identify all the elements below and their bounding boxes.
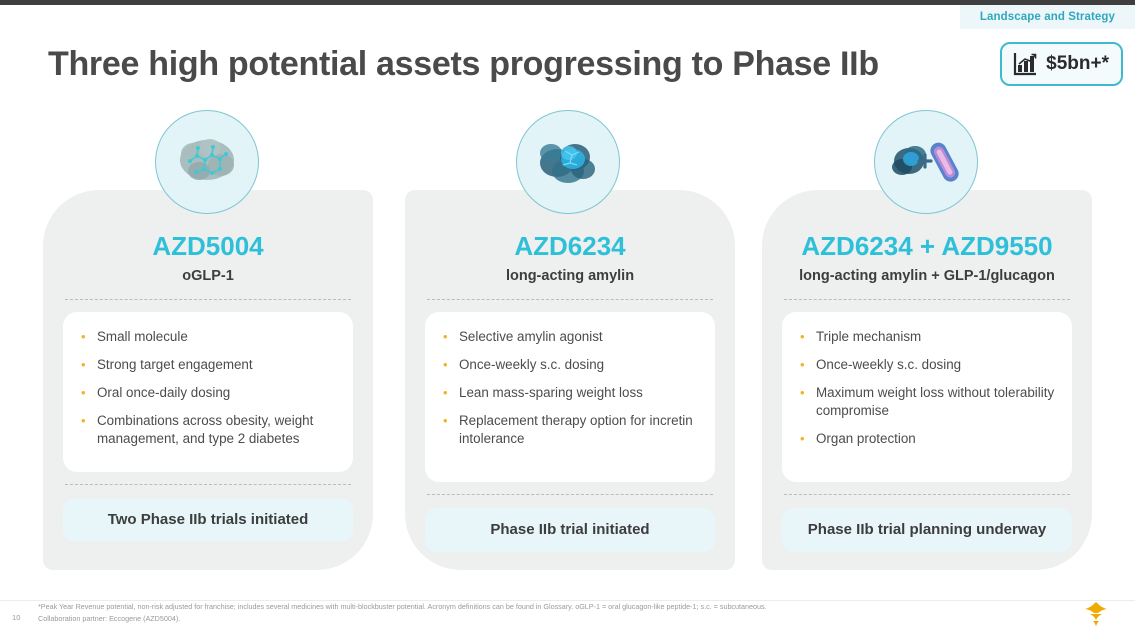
bullet-dot-icon: • <box>796 430 816 448</box>
bullet-text: Replacement therapy option for incretin … <box>459 412 701 448</box>
asset-code: AZD5004 <box>63 232 353 261</box>
status-badge: Phase IIb trial initiated <box>425 508 715 552</box>
status-badge: Phase IIb trial planning underway <box>782 508 1072 552</box>
molecule-protein-icon <box>527 119 609 206</box>
bullet-text: Strong target engagement <box>97 356 253 374</box>
bullet-dot-icon: • <box>77 412 97 448</box>
footnote-line-1: *Peak Year Revenue potential, non-risk a… <box>38 601 978 613</box>
molecule-small-icon <box>166 119 248 206</box>
footnote: *Peak Year Revenue potential, non-risk a… <box>38 601 978 625</box>
bullet-panel: • Small molecule • Strong target engagem… <box>63 312 353 472</box>
footnote-line-2: Collaboration partner: Eccogene (AZD5004… <box>38 613 978 625</box>
divider <box>427 494 713 495</box>
list-item: • Oral once-daily dosing <box>77 384 339 402</box>
list-item: • Replacement therapy option for increti… <box>439 412 701 448</box>
revenue-amount: $5bn+* <box>1046 53 1109 75</box>
bullet-text: Oral once-daily dosing <box>97 384 230 402</box>
bullet-dot-icon: • <box>796 384 816 420</box>
list-item: • Organ protection <box>796 430 1058 448</box>
bullet-text: Small molecule <box>97 328 188 346</box>
astrazeneca-logo <box>1079 601 1113 629</box>
bullet-text: Triple mechanism <box>816 328 921 346</box>
status-text: Phase IIb trial initiated <box>490 521 649 538</box>
status-badge: Two Phase IIb trials initiated <box>63 498 353 542</box>
list-item: • Combinations across obesity, weight ma… <box>77 412 339 448</box>
bullet-dot-icon: • <box>77 356 97 374</box>
status-text: Phase IIb trial planning underway <box>808 521 1046 538</box>
bullet-text: Organ protection <box>816 430 916 448</box>
bullet-panel: • Triple mechanism • Once-weekly s.c. do… <box>782 312 1072 482</box>
asset-subtitle: long-acting amylin <box>425 267 715 285</box>
page-title: Three high potential assets progressing … <box>48 45 879 84</box>
divider <box>65 299 351 300</box>
asset-subtitle: oGLP-1 <box>63 267 353 285</box>
list-item: • Selective amylin agonist <box>439 328 701 346</box>
divider <box>65 484 351 485</box>
bullet-text: Once-weekly s.c. dosing <box>816 356 961 374</box>
asset-code: AZD6234 <box>425 232 715 261</box>
bullet-panel: • Selective amylin agonist • Once-weekly… <box>425 312 715 482</box>
molecule-combination-icon <box>885 119 967 206</box>
bar-chart-icon <box>1012 51 1038 77</box>
bullet-text: Selective amylin agonist <box>459 328 603 346</box>
bullet-dot-icon: • <box>77 328 97 346</box>
list-item: • Small molecule <box>77 328 339 346</box>
bullet-dot-icon: • <box>439 328 459 346</box>
asset-card-azd6234-azd9550: AZD6234 + AZD9550 long-acting amylin + G… <box>762 190 1092 570</box>
bullet-text: Combinations across obesity, weight mana… <box>97 412 339 448</box>
slide-canvas: Landscape and Strategy $5bn+* Three high… <box>0 0 1135 637</box>
asset-code: AZD6234 + AZD9550 <box>782 232 1072 261</box>
list-item: • Strong target engagement <box>77 356 339 374</box>
divider <box>784 494 1070 495</box>
list-item: • Triple mechanism <box>796 328 1058 346</box>
slide-number: 10 <box>12 612 20 625</box>
revenue-badge: $5bn+* <box>1000 42 1123 86</box>
bullet-dot-icon: • <box>77 384 97 402</box>
bullet-dot-icon: • <box>796 328 816 346</box>
bullet-text: Maximum weight loss without tolerability… <box>816 384 1058 420</box>
molecule-small-icon-circle <box>155 110 259 214</box>
asset-card-azd6234: AZD6234 long-acting amylin • Selective a… <box>405 190 735 570</box>
list-item: • Lean mass-sparing weight loss <box>439 384 701 402</box>
bullet-dot-icon: • <box>439 384 459 402</box>
list-item: • Once-weekly s.c. dosing <box>796 356 1058 374</box>
list-item: • Once-weekly s.c. dosing <box>439 356 701 374</box>
bullet-text: Lean mass-sparing weight loss <box>459 384 643 402</box>
header-ribbon-label: Landscape and Strategy <box>980 11 1115 23</box>
molecule-combination-icon-circle <box>874 110 978 214</box>
bullet-dot-icon: • <box>796 356 816 374</box>
molecule-protein-icon-circle <box>516 110 620 214</box>
divider <box>427 299 713 300</box>
list-item: • Maximum weight loss without tolerabili… <box>796 384 1058 420</box>
bullet-dot-icon: • <box>439 356 459 374</box>
bullet-dot-icon: • <box>439 412 459 448</box>
status-text: Two Phase IIb trials initiated <box>108 511 309 528</box>
asset-card-azd5004: AZD5004 oGLP-1 • Small molecule • Strong… <box>43 190 373 570</box>
header-ribbon: Landscape and Strategy <box>960 5 1135 29</box>
asset-subtitle: long-acting amylin + GLP-1/glucagon <box>782 267 1072 285</box>
divider <box>784 299 1070 300</box>
bullet-text: Once-weekly s.c. dosing <box>459 356 604 374</box>
